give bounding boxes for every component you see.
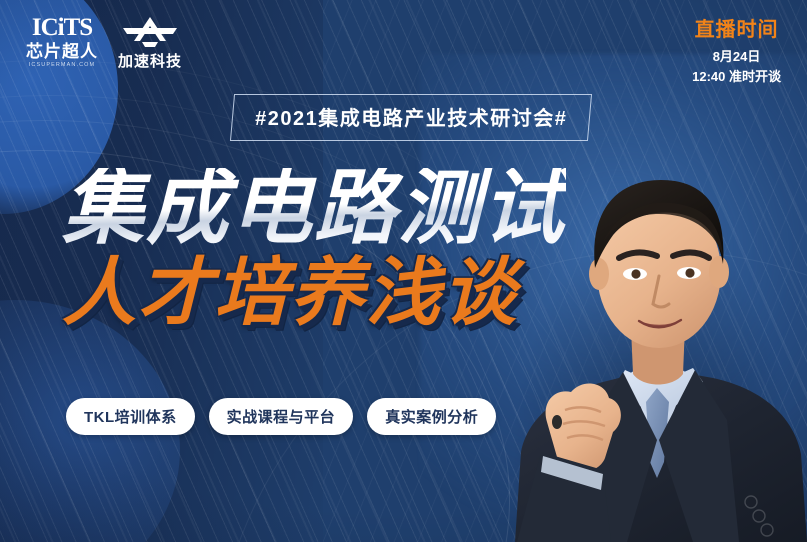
icits-url: ICSUPERMAN.COM — [29, 63, 95, 69]
schedule-title: 直播时间 — [692, 18, 781, 43]
jiasu-chinese-name: 加速科技 — [118, 54, 182, 69]
icits-chinese-name: 芯片超人 — [26, 43, 98, 60]
live-stream-promo-banner: ICiTS 芯片超人 ICSUPERMAN.COM 加速科技 直播时间 8月24… — [0, 0, 807, 542]
headline-line-2: 人才培养浅谈 — [62, 256, 566, 330]
topic-tag[interactable]: 实战课程与平台 — [209, 398, 354, 435]
headline-block: 集成电路测试 人才培养浅谈 — [62, 168, 566, 330]
jiasu-logo-mark — [119, 14, 181, 50]
jiasu-mountain-icon[interactable]: 加速科技 — [118, 14, 182, 69]
icits-logo-icon[interactable]: ICiTS 芯片超人 ICSUPERMAN.COM — [26, 15, 98, 69]
topic-tag[interactable]: 真实案例分析 — [367, 398, 496, 435]
schedule-date: 8月24日 — [692, 49, 781, 65]
broadcast-schedule: 直播时间 8月24日 12:40 准时开谈 — [692, 18, 781, 86]
topic-tag-list: TKL培训体系 实战课程与平台 真实案例分析 — [66, 398, 496, 435]
event-hashtag-box: #2021集成电路产业技术研讨会# — [230, 94, 592, 141]
icits-wordmark: ICiTS — [32, 15, 92, 40]
brand-logos: ICiTS 芯片超人 ICSUPERMAN.COM 加速科技 — [26, 14, 182, 69]
event-hashtag-text: #2021集成电路产业技术研讨会# — [255, 102, 567, 131]
schedule-time: 12:40 准时开谈 — [692, 69, 781, 85]
headline-line-1: 集成电路测试 — [62, 168, 566, 250]
topic-tag[interactable]: TKL培训体系 — [66, 398, 195, 435]
